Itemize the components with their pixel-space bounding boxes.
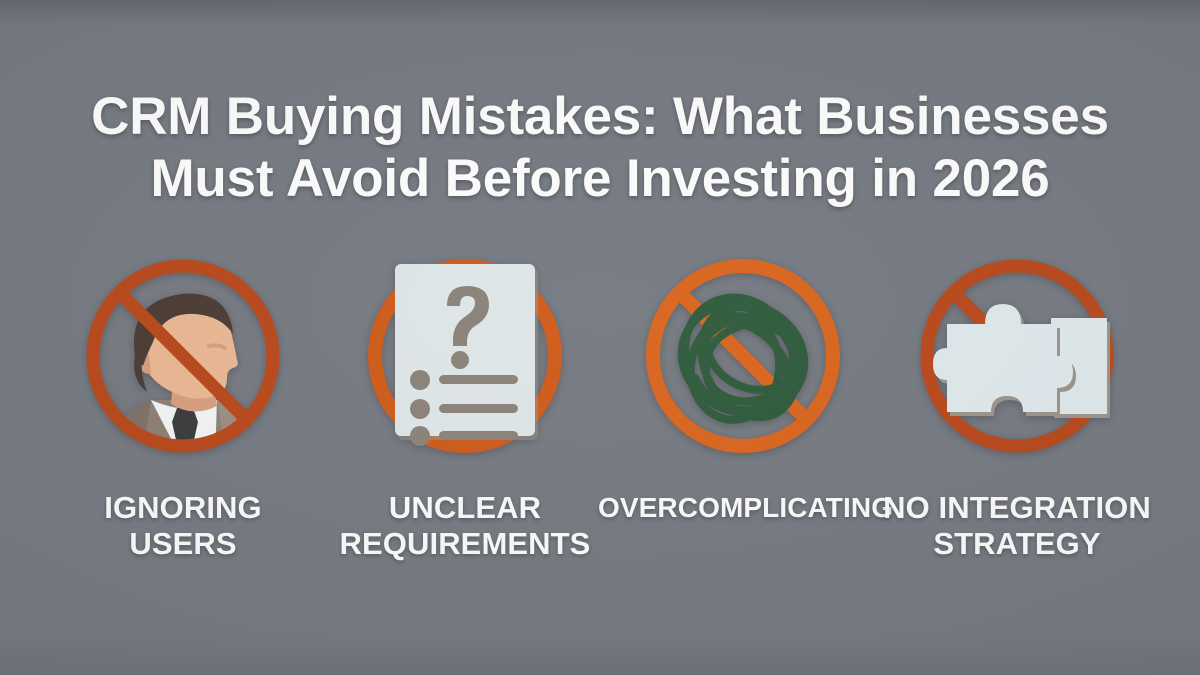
title-line-2: Must Avoid Before Investing in 2026 bbox=[60, 148, 1140, 210]
unclear-document-icon bbox=[359, 250, 571, 462]
page-title: CRM Buying Mistakes: What Businesses Mus… bbox=[0, 86, 1200, 210]
mistake-item-overcomplicating: OVERCOMPLICATING bbox=[598, 250, 888, 580]
no-user-icon bbox=[77, 250, 289, 462]
mistake-label: NO INTEGRATION STRATEGY bbox=[872, 490, 1162, 562]
tangled-scribble-icon bbox=[637, 250, 849, 462]
mistake-label: IGNORING USERS bbox=[38, 490, 328, 562]
mistake-item-no-integration-strategy: NO INTEGRATION STRATEGY bbox=[872, 250, 1162, 580]
mistake-label: UNCLEAR REQUIREMENTS bbox=[320, 490, 610, 562]
title-line-1: CRM Buying Mistakes: What Businesses bbox=[60, 86, 1140, 148]
mistake-label: OVERCOMPLICATING bbox=[598, 490, 888, 526]
infographic-canvas: CRM Buying Mistakes: What Businesses Mus… bbox=[0, 0, 1200, 675]
mistake-item-ignoring-users: IGNORING USERS bbox=[38, 250, 328, 580]
mistakes-row: IGNORING USERS bbox=[0, 250, 1200, 580]
puzzle-pieces-icon bbox=[911, 250, 1123, 462]
mistake-item-unclear-requirements: UNCLEAR REQUIREMENTS bbox=[320, 250, 610, 580]
